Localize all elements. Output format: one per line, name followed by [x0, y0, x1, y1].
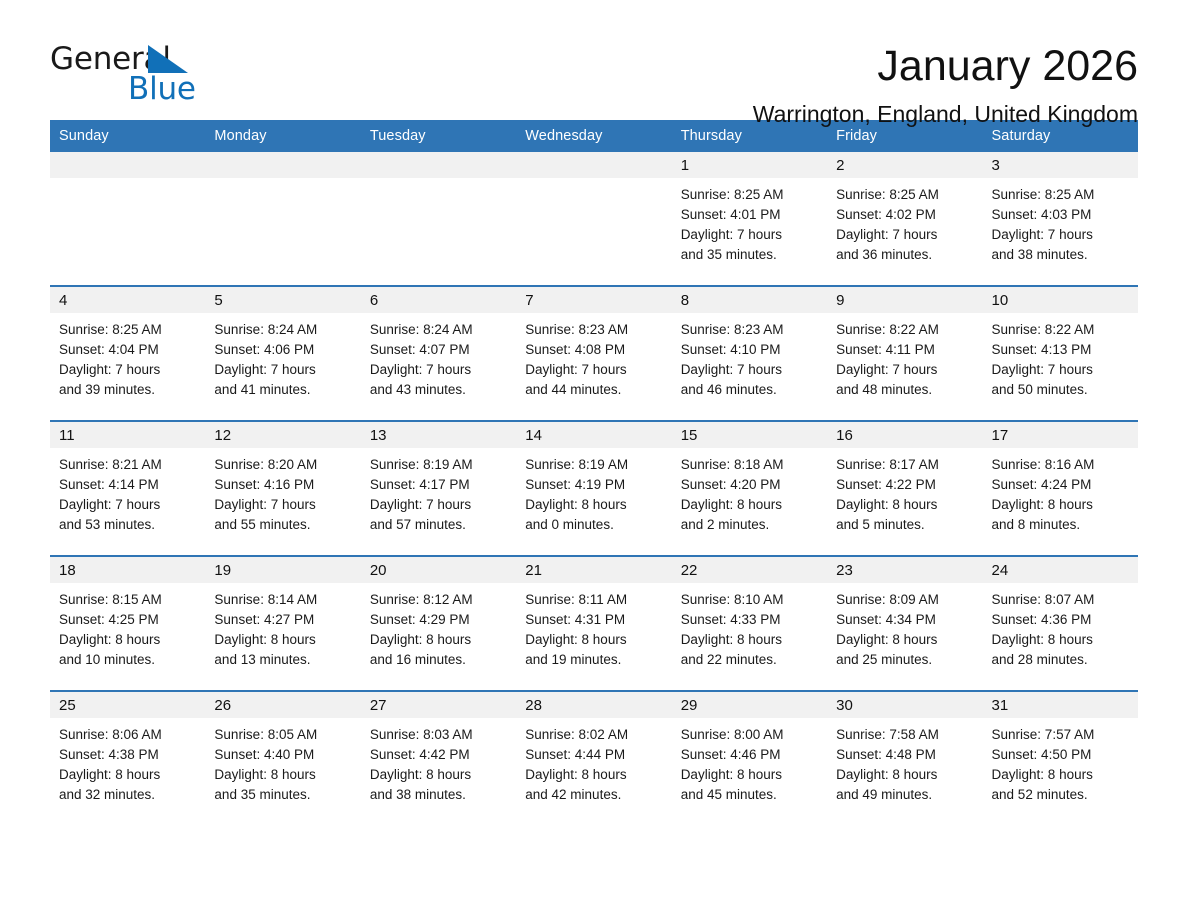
- day-cell-inner: 30Sunrise: 7:58 AMSunset: 4:48 PMDayligh…: [827, 692, 982, 825]
- day-cell-inner: 9Sunrise: 8:22 AMSunset: 4:11 PMDaylight…: [827, 287, 982, 420]
- calendar-day-cell[interactable]: 12Sunrise: 8:20 AMSunset: 4:16 PMDayligh…: [205, 421, 360, 556]
- calendar-day-cell[interactable]: 15Sunrise: 8:18 AMSunset: 4:20 PMDayligh…: [672, 421, 827, 556]
- daylight-text-line1: Daylight: 7 hours: [59, 360, 195, 380]
- day-number: 17: [983, 422, 1138, 448]
- sunrise-text: Sunrise: 8:07 AM: [992, 590, 1128, 610]
- daylight-text-line1: Daylight: 8 hours: [992, 765, 1128, 785]
- daylight-text-line1: Daylight: 8 hours: [836, 495, 972, 515]
- day-number: 28: [516, 692, 671, 718]
- day-number: 1: [672, 152, 827, 178]
- sunset-text: Sunset: 4:40 PM: [214, 745, 350, 765]
- daylight-text-line2: and 10 minutes.: [59, 650, 195, 670]
- sunset-text: Sunset: 4:01 PM: [681, 205, 817, 225]
- sunrise-text: Sunrise: 8:02 AM: [525, 725, 661, 745]
- day-number: 20: [361, 557, 516, 583]
- sunrise-text: Sunrise: 8:19 AM: [370, 455, 506, 475]
- sunrise-text: Sunrise: 8:22 AM: [836, 320, 972, 340]
- day-cell-details: Sunrise: 8:14 AMSunset: 4:27 PMDaylight:…: [205, 583, 360, 670]
- day-number: 23: [827, 557, 982, 583]
- daylight-text-line2: and 50 minutes.: [992, 380, 1128, 400]
- day-cell-details: Sunrise: 8:24 AMSunset: 4:07 PMDaylight:…: [361, 313, 516, 400]
- calendar-day-cell[interactable]: 31Sunrise: 7:57 AMSunset: 4:50 PMDayligh…: [983, 691, 1138, 825]
- day-cell-details: Sunrise: 8:15 AMSunset: 4:25 PMDaylight:…: [50, 583, 205, 670]
- daylight-text-line1: Daylight: 7 hours: [370, 495, 506, 515]
- daylight-text-line2: and 49 minutes.: [836, 785, 972, 805]
- sunset-text: Sunset: 4:46 PM: [681, 745, 817, 765]
- day-cell-inner: 10Sunrise: 8:22 AMSunset: 4:13 PMDayligh…: [983, 287, 1138, 420]
- calendar-day-cell[interactable]: 28Sunrise: 8:02 AMSunset: 4:44 PMDayligh…: [516, 691, 671, 825]
- logo-word-blue: Blue: [128, 74, 196, 105]
- sunrise-text: Sunrise: 8:00 AM: [681, 725, 817, 745]
- day-cell-details: Sunrise: 8:23 AMSunset: 4:08 PMDaylight:…: [516, 313, 671, 400]
- calendar-week-row: 11Sunrise: 8:21 AMSunset: 4:14 PMDayligh…: [50, 421, 1138, 556]
- sunrise-text: Sunrise: 8:20 AM: [214, 455, 350, 475]
- daylight-text-line2: and 36 minutes.: [836, 245, 972, 265]
- daylight-text-line2: and 28 minutes.: [992, 650, 1128, 670]
- calendar-day-cell[interactable]: 13Sunrise: 8:19 AMSunset: 4:17 PMDayligh…: [361, 421, 516, 556]
- day-cell-inner: 18Sunrise: 8:15 AMSunset: 4:25 PMDayligh…: [50, 557, 205, 690]
- day-cell-details: Sunrise: 8:20 AMSunset: 4:16 PMDaylight:…: [205, 448, 360, 535]
- weekday-header-wednesday: Wednesday: [516, 120, 671, 152]
- daylight-text-line2: and 8 minutes.: [992, 515, 1128, 535]
- day-number: 11: [50, 422, 205, 448]
- sunset-text: Sunset: 4:42 PM: [370, 745, 506, 765]
- page-subtitle: Warrington, England, United Kingdom: [753, 101, 1138, 128]
- sunrise-text: Sunrise: 8:17 AM: [836, 455, 972, 475]
- day-cell-details: Sunrise: 8:25 AMSunset: 4:01 PMDaylight:…: [672, 178, 827, 265]
- calendar-day-cell[interactable]: 23Sunrise: 8:09 AMSunset: 4:34 PMDayligh…: [827, 556, 982, 691]
- page-header: General Blue January 2026 Warrington, En…: [50, 0, 1138, 106]
- sunrise-text: Sunrise: 8:12 AM: [370, 590, 506, 610]
- daylight-text-line2: and 43 minutes.: [370, 380, 506, 400]
- sunset-text: Sunset: 4:19 PM: [525, 475, 661, 495]
- sunset-text: Sunset: 4:07 PM: [370, 340, 506, 360]
- sunrise-text: Sunrise: 8:11 AM: [525, 590, 661, 610]
- day-number: 29: [672, 692, 827, 718]
- day-cell-details: Sunrise: 8:03 AMSunset: 4:42 PMDaylight:…: [361, 718, 516, 805]
- day-number: 26: [205, 692, 360, 718]
- day-number: 18: [50, 557, 205, 583]
- daylight-text-line2: and 38 minutes.: [370, 785, 506, 805]
- calendar-body: 1Sunrise: 8:25 AMSunset: 4:01 PMDaylight…: [50, 152, 1138, 825]
- daylight-text-line1: Daylight: 7 hours: [59, 495, 195, 515]
- daylight-text-line1: Daylight: 7 hours: [992, 360, 1128, 380]
- calendar-day-cell[interactable]: 9Sunrise: 8:22 AMSunset: 4:11 PMDaylight…: [827, 286, 982, 421]
- sunrise-text: Sunrise: 8:24 AM: [370, 320, 506, 340]
- sunrise-text: Sunrise: 8:25 AM: [681, 185, 817, 205]
- day-cell-details: Sunrise: 7:58 AMSunset: 4:48 PMDaylight:…: [827, 718, 982, 805]
- sunrise-text: Sunrise: 8:23 AM: [525, 320, 661, 340]
- triangle-flag-icon: [148, 45, 188, 73]
- calendar-day-cell[interactable]: 18Sunrise: 8:15 AMSunset: 4:25 PMDayligh…: [50, 556, 205, 691]
- calendar-day-cell[interactable]: 5Sunrise: 8:24 AMSunset: 4:06 PMDaylight…: [205, 286, 360, 421]
- sunrise-text: Sunrise: 8:21 AM: [59, 455, 195, 475]
- calendar-day-cell[interactable]: 2Sunrise: 8:25 AMSunset: 4:02 PMDaylight…: [827, 152, 982, 286]
- day-cell-details: Sunrise: 8:05 AMSunset: 4:40 PMDaylight:…: [205, 718, 360, 805]
- day-cell-details: Sunrise: 8:07 AMSunset: 4:36 PMDaylight:…: [983, 583, 1138, 670]
- sunset-text: Sunset: 4:04 PM: [59, 340, 195, 360]
- day-cell-inner: 23Sunrise: 8:09 AMSunset: 4:34 PMDayligh…: [827, 557, 982, 690]
- calendar-day-cell-empty: [50, 152, 205, 286]
- calendar-day-cell[interactable]: 25Sunrise: 8:06 AMSunset: 4:38 PMDayligh…: [50, 691, 205, 825]
- day-cell-inner: 4Sunrise: 8:25 AMSunset: 4:04 PMDaylight…: [50, 287, 205, 420]
- sunrise-text: Sunrise: 8:18 AM: [681, 455, 817, 475]
- day-cell-details: Sunrise: 8:12 AMSunset: 4:29 PMDaylight:…: [361, 583, 516, 670]
- day-number: 27: [361, 692, 516, 718]
- day-cell-inner: 15Sunrise: 8:18 AMSunset: 4:20 PMDayligh…: [672, 422, 827, 555]
- daylight-text-line2: and 39 minutes.: [59, 380, 195, 400]
- daylight-text-line2: and 44 minutes.: [525, 380, 661, 400]
- weekday-header-monday: Monday: [205, 120, 360, 152]
- daylight-text-line2: and 0 minutes.: [525, 515, 661, 535]
- daylight-text-line2: and 42 minutes.: [525, 785, 661, 805]
- day-cell-details: Sunrise: 8:25 AMSunset: 4:02 PMDaylight:…: [827, 178, 982, 265]
- sunrise-text: Sunrise: 8:05 AM: [214, 725, 350, 745]
- day-number: 16: [827, 422, 982, 448]
- daylight-text-line2: and 35 minutes.: [214, 785, 350, 805]
- day-cell-inner: 19Sunrise: 8:14 AMSunset: 4:27 PMDayligh…: [205, 557, 360, 690]
- calendar-day-cell[interactable]: 6Sunrise: 8:24 AMSunset: 4:07 PMDaylight…: [361, 286, 516, 421]
- day-cell-inner: [50, 152, 205, 285]
- day-cell-inner: 5Sunrise: 8:24 AMSunset: 4:06 PMDaylight…: [205, 287, 360, 420]
- calendar-week-row: 1Sunrise: 8:25 AMSunset: 4:01 PMDaylight…: [50, 152, 1138, 286]
- calendar-day-cell[interactable]: 19Sunrise: 8:14 AMSunset: 4:27 PMDayligh…: [205, 556, 360, 691]
- day-cell-details: Sunrise: 8:16 AMSunset: 4:24 PMDaylight:…: [983, 448, 1138, 535]
- daylight-text-line2: and 38 minutes.: [992, 245, 1128, 265]
- calendar-day-cell[interactable]: 7Sunrise: 8:23 AMSunset: 4:08 PMDaylight…: [516, 286, 671, 421]
- day-number: 15: [672, 422, 827, 448]
- day-cell-inner: 3Sunrise: 8:25 AMSunset: 4:03 PMDaylight…: [983, 152, 1138, 285]
- calendar-day-cell[interactable]: 3Sunrise: 8:25 AMSunset: 4:03 PMDaylight…: [983, 152, 1138, 286]
- day-number: [205, 152, 360, 178]
- sunset-text: Sunset: 4:33 PM: [681, 610, 817, 630]
- daylight-text-line2: and 22 minutes.: [681, 650, 817, 670]
- sunset-text: Sunset: 4:22 PM: [836, 475, 972, 495]
- sunset-text: Sunset: 4:20 PM: [681, 475, 817, 495]
- day-number: 14: [516, 422, 671, 448]
- daylight-text-line2: and 32 minutes.: [59, 785, 195, 805]
- daylight-text-line1: Daylight: 7 hours: [836, 360, 972, 380]
- calendar-day-cell[interactable]: 16Sunrise: 8:17 AMSunset: 4:22 PMDayligh…: [827, 421, 982, 556]
- day-cell-inner: 13Sunrise: 8:19 AMSunset: 4:17 PMDayligh…: [361, 422, 516, 555]
- day-cell-details: Sunrise: 8:06 AMSunset: 4:38 PMDaylight:…: [50, 718, 205, 805]
- day-cell-inner: 31Sunrise: 7:57 AMSunset: 4:50 PMDayligh…: [983, 692, 1138, 825]
- calendar-day-cell[interactable]: 17Sunrise: 8:16 AMSunset: 4:24 PMDayligh…: [983, 421, 1138, 556]
- daylight-text-line1: Daylight: 7 hours: [681, 360, 817, 380]
- daylight-text-line2: and 48 minutes.: [836, 380, 972, 400]
- daylight-text-line1: Daylight: 8 hours: [836, 630, 972, 650]
- daylight-text-line2: and 46 minutes.: [681, 380, 817, 400]
- daylight-text-line2: and 16 minutes.: [370, 650, 506, 670]
- day-cell-inner: [361, 152, 516, 285]
- daylight-text-line1: Daylight: 8 hours: [525, 765, 661, 785]
- day-number: 25: [50, 692, 205, 718]
- day-cell-details: Sunrise: 8:00 AMSunset: 4:46 PMDaylight:…: [672, 718, 827, 805]
- day-cell-details: Sunrise: 8:22 AMSunset: 4:11 PMDaylight:…: [827, 313, 982, 400]
- day-number: 2: [827, 152, 982, 178]
- sunset-text: Sunset: 4:50 PM: [992, 745, 1128, 765]
- daylight-text-line2: and 53 minutes.: [59, 515, 195, 535]
- day-cell-inner: 21Sunrise: 8:11 AMSunset: 4:31 PMDayligh…: [516, 557, 671, 690]
- sunrise-text: Sunrise: 8:24 AM: [214, 320, 350, 340]
- day-cell-inner: 16Sunrise: 8:17 AMSunset: 4:22 PMDayligh…: [827, 422, 982, 555]
- sunrise-text: Sunrise: 8:25 AM: [59, 320, 195, 340]
- daylight-text-line2: and 52 minutes.: [992, 785, 1128, 805]
- daylight-text-line1: Daylight: 7 hours: [525, 360, 661, 380]
- day-cell-details: Sunrise: 8:09 AMSunset: 4:34 PMDaylight:…: [827, 583, 982, 670]
- daylight-text-line1: Daylight: 8 hours: [214, 765, 350, 785]
- calendar-day-cell[interactable]: 24Sunrise: 8:07 AMSunset: 4:36 PMDayligh…: [983, 556, 1138, 691]
- day-cell-inner: 6Sunrise: 8:24 AMSunset: 4:07 PMDaylight…: [361, 287, 516, 420]
- sunset-text: Sunset: 4:16 PM: [214, 475, 350, 495]
- sunrise-text: Sunrise: 8:22 AM: [992, 320, 1128, 340]
- sunrise-text: Sunrise: 8:06 AM: [59, 725, 195, 745]
- day-cell-details: Sunrise: 8:11 AMSunset: 4:31 PMDaylight:…: [516, 583, 671, 670]
- calendar-day-cell[interactable]: 4Sunrise: 8:25 AMSunset: 4:04 PMDaylight…: [50, 286, 205, 421]
- calendar-week-row: 18Sunrise: 8:15 AMSunset: 4:25 PMDayligh…: [50, 556, 1138, 691]
- sunset-text: Sunset: 4:24 PM: [992, 475, 1128, 495]
- daylight-text-line1: Daylight: 8 hours: [525, 495, 661, 515]
- daylight-text-line1: Daylight: 7 hours: [992, 225, 1128, 245]
- day-cell-details: Sunrise: 8:22 AMSunset: 4:13 PMDaylight:…: [983, 313, 1138, 400]
- sunset-text: Sunset: 4:25 PM: [59, 610, 195, 630]
- daylight-text-line1: Daylight: 8 hours: [525, 630, 661, 650]
- sunrise-text: Sunrise: 8:14 AM: [214, 590, 350, 610]
- day-cell-details: Sunrise: 8:25 AMSunset: 4:03 PMDaylight:…: [983, 178, 1138, 265]
- daylight-text-line2: and 19 minutes.: [525, 650, 661, 670]
- page-title: January 2026: [753, 44, 1138, 89]
- day-cell-inner: 7Sunrise: 8:23 AMSunset: 4:08 PMDaylight…: [516, 287, 671, 420]
- day-cell-details: Sunrise: 8:21 AMSunset: 4:14 PMDaylight:…: [50, 448, 205, 535]
- daylight-text-line1: Daylight: 8 hours: [59, 630, 195, 650]
- day-cell-details: Sunrise: 8:24 AMSunset: 4:06 PMDaylight:…: [205, 313, 360, 400]
- day-number: 21: [516, 557, 671, 583]
- day-cell-inner: 26Sunrise: 8:05 AMSunset: 4:40 PMDayligh…: [205, 692, 360, 825]
- daylight-text-line2: and 2 minutes.: [681, 515, 817, 535]
- day-cell-inner: 25Sunrise: 8:06 AMSunset: 4:38 PMDayligh…: [50, 692, 205, 825]
- daylight-text-line1: Daylight: 7 hours: [370, 360, 506, 380]
- day-cell-inner: 28Sunrise: 8:02 AMSunset: 4:44 PMDayligh…: [516, 692, 671, 825]
- day-number: 8: [672, 287, 827, 313]
- sunrise-text: Sunrise: 8:15 AM: [59, 590, 195, 610]
- calendar-page: General Blue January 2026 Warrington, En…: [0, 0, 1188, 918]
- day-cell-inner: 17Sunrise: 8:16 AMSunset: 4:24 PMDayligh…: [983, 422, 1138, 555]
- sunset-text: Sunset: 4:17 PM: [370, 475, 506, 495]
- sunset-text: Sunset: 4:44 PM: [525, 745, 661, 765]
- day-cell-inner: 20Sunrise: 8:12 AMSunset: 4:29 PMDayligh…: [361, 557, 516, 690]
- day-cell-inner: 2Sunrise: 8:25 AMSunset: 4:02 PMDaylight…: [827, 152, 982, 285]
- day-number: [516, 152, 671, 178]
- sunset-text: Sunset: 4:08 PM: [525, 340, 661, 360]
- day-cell-inner: 22Sunrise: 8:10 AMSunset: 4:33 PMDayligh…: [672, 557, 827, 690]
- sunset-text: Sunset: 4:10 PM: [681, 340, 817, 360]
- sunset-text: Sunset: 4:48 PM: [836, 745, 972, 765]
- day-cell-inner: [516, 152, 671, 285]
- day-cell-inner: 12Sunrise: 8:20 AMSunset: 4:16 PMDayligh…: [205, 422, 360, 555]
- day-cell-details: Sunrise: 8:17 AMSunset: 4:22 PMDaylight:…: [827, 448, 982, 535]
- calendar-day-cell[interactable]: 8Sunrise: 8:23 AMSunset: 4:10 PMDaylight…: [672, 286, 827, 421]
- day-number: 24: [983, 557, 1138, 583]
- sunrise-text: Sunrise: 7:57 AM: [992, 725, 1128, 745]
- calendar-day-cell[interactable]: 14Sunrise: 8:19 AMSunset: 4:19 PMDayligh…: [516, 421, 671, 556]
- calendar-day-cell-empty: [361, 152, 516, 286]
- weekday-header-sunday: Sunday: [50, 120, 205, 152]
- day-number: 13: [361, 422, 516, 448]
- day-cell-details: Sunrise: 7:57 AMSunset: 4:50 PMDaylight:…: [983, 718, 1138, 805]
- sunset-text: Sunset: 4:29 PM: [370, 610, 506, 630]
- daylight-text-line1: Daylight: 7 hours: [214, 360, 350, 380]
- calendar-day-cell[interactable]: 22Sunrise: 8:10 AMSunset: 4:33 PMDayligh…: [672, 556, 827, 691]
- daylight-text-line2: and 57 minutes.: [370, 515, 506, 535]
- calendar-day-cell[interactable]: 29Sunrise: 8:00 AMSunset: 4:46 PMDayligh…: [672, 691, 827, 825]
- day-number: 3: [983, 152, 1138, 178]
- sunset-text: Sunset: 4:03 PM: [992, 205, 1128, 225]
- daylight-text-line1: Daylight: 8 hours: [992, 495, 1128, 515]
- day-cell-inner: 27Sunrise: 8:03 AMSunset: 4:42 PMDayligh…: [361, 692, 516, 825]
- day-number: 5: [205, 287, 360, 313]
- daylight-text-line1: Daylight: 8 hours: [214, 630, 350, 650]
- sunrise-text: Sunrise: 7:58 AM: [836, 725, 972, 745]
- day-number: 4: [50, 287, 205, 313]
- daylight-text-line1: Daylight: 8 hours: [992, 630, 1128, 650]
- sunset-text: Sunset: 4:02 PM: [836, 205, 972, 225]
- sunset-text: Sunset: 4:06 PM: [214, 340, 350, 360]
- day-cell-inner: 1Sunrise: 8:25 AMSunset: 4:01 PMDaylight…: [672, 152, 827, 285]
- day-cell-details: Sunrise: 8:18 AMSunset: 4:20 PMDaylight:…: [672, 448, 827, 535]
- calendar-table: Sunday Monday Tuesday Wednesday Thursday…: [50, 120, 1138, 825]
- sunrise-text: Sunrise: 8:03 AM: [370, 725, 506, 745]
- day-cell-details: Sunrise: 8:02 AMSunset: 4:44 PMDaylight:…: [516, 718, 671, 805]
- calendar-day-cell[interactable]: 20Sunrise: 8:12 AMSunset: 4:29 PMDayligh…: [361, 556, 516, 691]
- calendar-day-cell[interactable]: 21Sunrise: 8:11 AMSunset: 4:31 PMDayligh…: [516, 556, 671, 691]
- daylight-text-line2: and 5 minutes.: [836, 515, 972, 535]
- day-number: [361, 152, 516, 178]
- calendar-week-row: 4Sunrise: 8:25 AMSunset: 4:04 PMDaylight…: [50, 286, 1138, 421]
- daylight-text-line2: and 45 minutes.: [681, 785, 817, 805]
- calendar-day-cell[interactable]: 26Sunrise: 8:05 AMSunset: 4:40 PMDayligh…: [205, 691, 360, 825]
- daylight-text-line1: Daylight: 7 hours: [681, 225, 817, 245]
- daylight-text-line2: and 25 minutes.: [836, 650, 972, 670]
- sunset-text: Sunset: 4:27 PM: [214, 610, 350, 630]
- daylight-text-line2: and 41 minutes.: [214, 380, 350, 400]
- day-cell-details: Sunrise: 8:19 AMSunset: 4:17 PMDaylight:…: [361, 448, 516, 535]
- generalblue-logo[interactable]: General Blue: [50, 44, 200, 114]
- sunrise-text: Sunrise: 8:19 AM: [525, 455, 661, 475]
- sunrise-text: Sunrise: 8:09 AM: [836, 590, 972, 610]
- calendar-day-cell-empty: [516, 152, 671, 286]
- daylight-text-line1: Daylight: 7 hours: [214, 495, 350, 515]
- sunset-text: Sunset: 4:36 PM: [992, 610, 1128, 630]
- calendar-day-cell[interactable]: 27Sunrise: 8:03 AMSunset: 4:42 PMDayligh…: [361, 691, 516, 825]
- day-number: 22: [672, 557, 827, 583]
- day-number: 10: [983, 287, 1138, 313]
- day-cell-inner: 24Sunrise: 8:07 AMSunset: 4:36 PMDayligh…: [983, 557, 1138, 690]
- day-number: 6: [361, 287, 516, 313]
- weekday-header-tuesday: Tuesday: [361, 120, 516, 152]
- calendar-day-cell[interactable]: 1Sunrise: 8:25 AMSunset: 4:01 PMDaylight…: [672, 152, 827, 286]
- day-cell-inner: 14Sunrise: 8:19 AMSunset: 4:19 PMDayligh…: [516, 422, 671, 555]
- daylight-text-line1: Daylight: 8 hours: [681, 765, 817, 785]
- daylight-text-line1: Daylight: 8 hours: [836, 765, 972, 785]
- calendar-day-cell-empty: [205, 152, 360, 286]
- calendar-day-cell[interactable]: 30Sunrise: 7:58 AMSunset: 4:48 PMDayligh…: [827, 691, 982, 825]
- title-block: January 2026 Warrington, England, United…: [753, 44, 1138, 128]
- sunrise-text: Sunrise: 8:25 AM: [992, 185, 1128, 205]
- daylight-text-line1: Daylight: 8 hours: [370, 765, 506, 785]
- daylight-text-line1: Daylight: 8 hours: [370, 630, 506, 650]
- day-cell-inner: 11Sunrise: 8:21 AMSunset: 4:14 PMDayligh…: [50, 422, 205, 555]
- sunrise-text: Sunrise: 8:16 AM: [992, 455, 1128, 475]
- day-number: 12: [205, 422, 360, 448]
- day-number: 31: [983, 692, 1138, 718]
- daylight-text-line2: and 55 minutes.: [214, 515, 350, 535]
- day-cell-inner: 29Sunrise: 8:00 AMSunset: 4:46 PMDayligh…: [672, 692, 827, 825]
- sunrise-text: Sunrise: 8:10 AM: [681, 590, 817, 610]
- daylight-text-line1: Daylight: 8 hours: [681, 630, 817, 650]
- sunset-text: Sunset: 4:38 PM: [59, 745, 195, 765]
- daylight-text-line1: Daylight: 7 hours: [836, 225, 972, 245]
- calendar-day-cell[interactable]: 11Sunrise: 8:21 AMSunset: 4:14 PMDayligh…: [50, 421, 205, 556]
- daylight-text-line2: and 13 minutes.: [214, 650, 350, 670]
- sunset-text: Sunset: 4:34 PM: [836, 610, 972, 630]
- sunset-text: Sunset: 4:11 PM: [836, 340, 972, 360]
- sunset-text: Sunset: 4:31 PM: [525, 610, 661, 630]
- sunrise-text: Sunrise: 8:23 AM: [681, 320, 817, 340]
- day-cell-details: Sunrise: 8:25 AMSunset: 4:04 PMDaylight:…: [50, 313, 205, 400]
- calendar-day-cell[interactable]: 10Sunrise: 8:22 AMSunset: 4:13 PMDayligh…: [983, 286, 1138, 421]
- sunset-text: Sunset: 4:14 PM: [59, 475, 195, 495]
- day-number: 19: [205, 557, 360, 583]
- day-number: 7: [516, 287, 671, 313]
- day-cell-details: Sunrise: 8:19 AMSunset: 4:19 PMDaylight:…: [516, 448, 671, 535]
- day-cell-details: Sunrise: 8:23 AMSunset: 4:10 PMDaylight:…: [672, 313, 827, 400]
- daylight-text-line1: Daylight: 8 hours: [681, 495, 817, 515]
- day-number: [50, 152, 205, 178]
- daylight-text-line2: and 35 minutes.: [681, 245, 817, 265]
- sunrise-text: Sunrise: 8:25 AM: [836, 185, 972, 205]
- day-number: 9: [827, 287, 982, 313]
- day-cell-inner: [205, 152, 360, 285]
- day-cell-details: Sunrise: 8:10 AMSunset: 4:33 PMDaylight:…: [672, 583, 827, 670]
- day-number: 30: [827, 692, 982, 718]
- daylight-text-line1: Daylight: 8 hours: [59, 765, 195, 785]
- day-cell-inner: 8Sunrise: 8:23 AMSunset: 4:10 PMDaylight…: [672, 287, 827, 420]
- calendar-week-row: 25Sunrise: 8:06 AMSunset: 4:38 PMDayligh…: [50, 691, 1138, 825]
- sunset-text: Sunset: 4:13 PM: [992, 340, 1128, 360]
